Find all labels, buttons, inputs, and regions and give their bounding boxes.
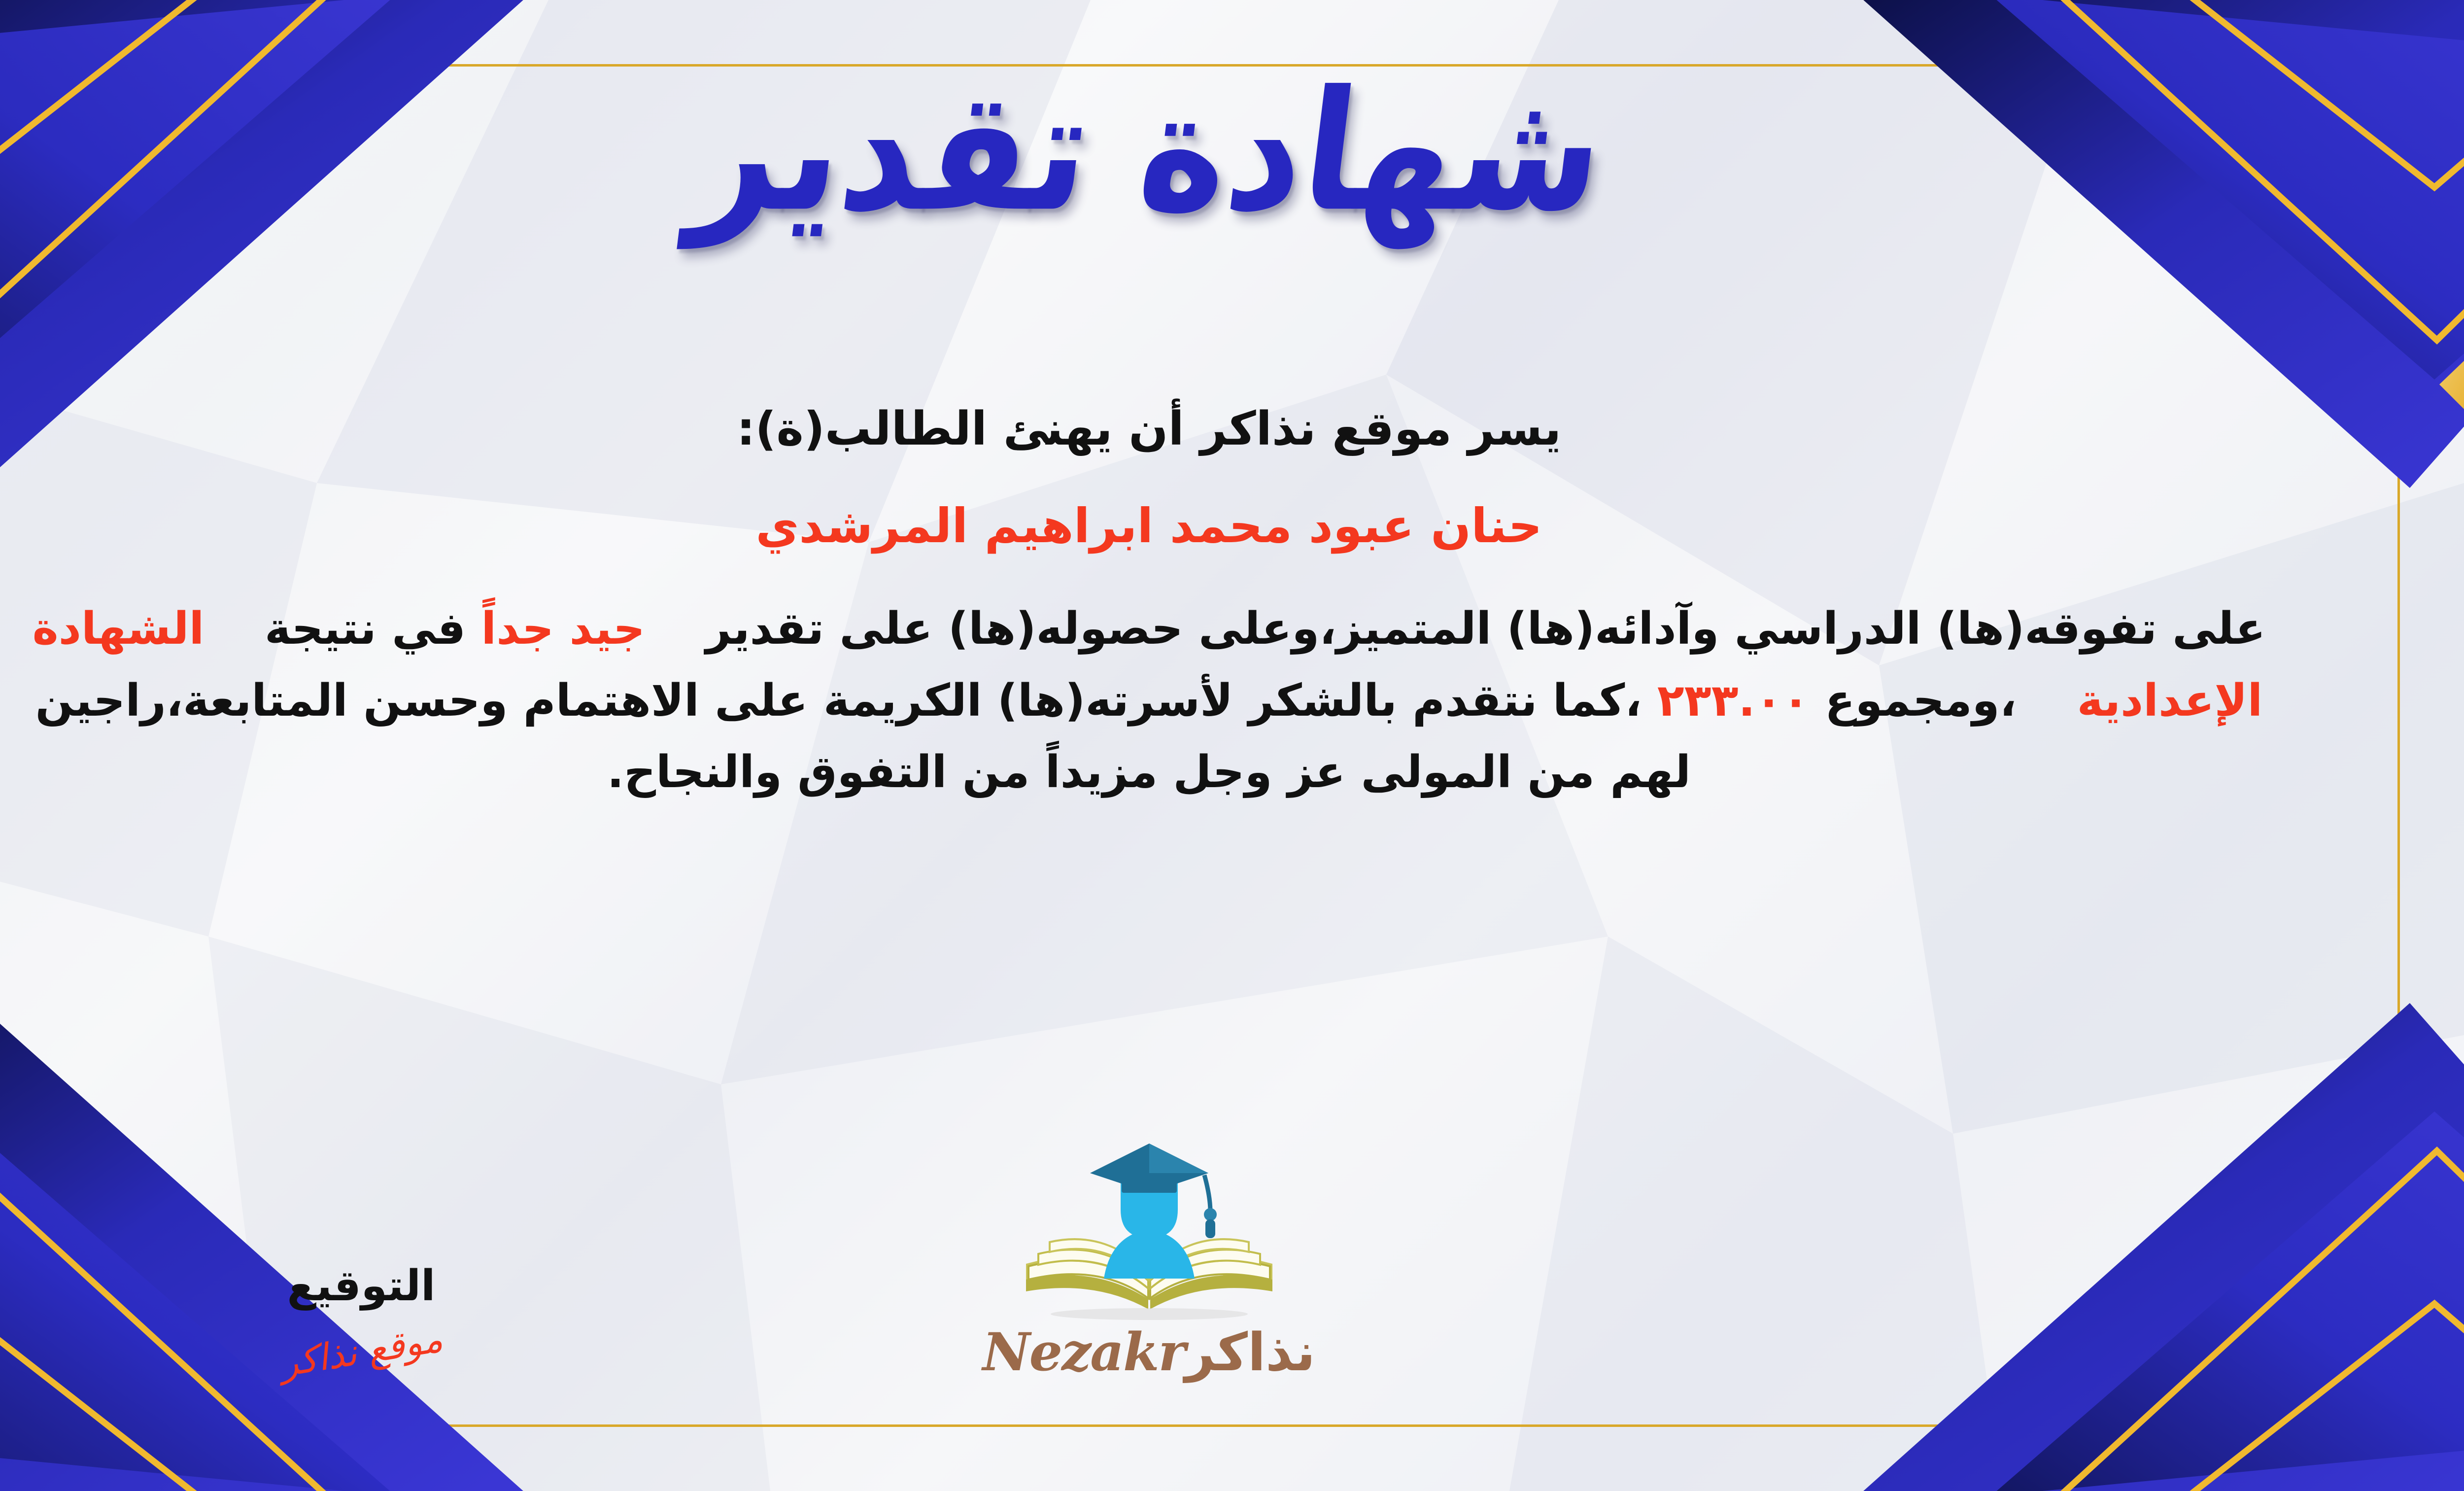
total-score-value: ٢٣٣.٠٠ [1657,675,1810,727]
brand-name-latin: Nezakr [983,1321,1185,1383]
signature-label: التوقيع [189,1261,534,1311]
certificate-page: شهادة تقدير يسر موقع نذاكر أن يهنئ الطال… [0,0,2464,1491]
citation-part-3: ،ومجموع [1825,675,2017,727]
greeting-line: يسر موقع نذاكر أن يهنئ الطالب(ة): [0,394,2301,465]
certificate-body: يسر موقع نذاكر أن يهنئ الطالب(ة): حنان ع… [0,394,2301,808]
signature-handwriting: موقع نذاكر [277,1318,445,1386]
citation-part-2: في نتيجة [265,603,466,655]
student-name: حنان عبود محمد ابراهيم المرشدي [0,490,2301,562]
grade-value: جيد جداً [481,603,645,655]
certificate-title-area: شهادة تقدير [0,59,2464,286]
citation-paragraph: على تفوقه(ها) الدراسي وآدائه(ها) المتميز… [0,593,2301,808]
brand-logo: نذاكرNezakr [927,1141,1371,1383]
certificate-title: شهادة تقدير [683,48,1616,255]
graduate-book-logo-icon [1011,1141,1287,1328]
certificate-footer: التوقيع موقع نذاكر [0,1087,2365,1402]
brand-logo-text: نذاكرNezakr [927,1321,1371,1383]
citation-part-4: ،كما نتقدم بالشكر لأسرته(ها) الكريمة على… [35,675,1691,798]
signature-block: التوقيع موقع نذاكر [189,1261,534,1373]
brand-name-arabic: نذاكر [1185,1322,1315,1383]
citation-part-1: على تفوقه(ها) الدراسي وآدائه(ها) المتميز… [706,603,2266,655]
